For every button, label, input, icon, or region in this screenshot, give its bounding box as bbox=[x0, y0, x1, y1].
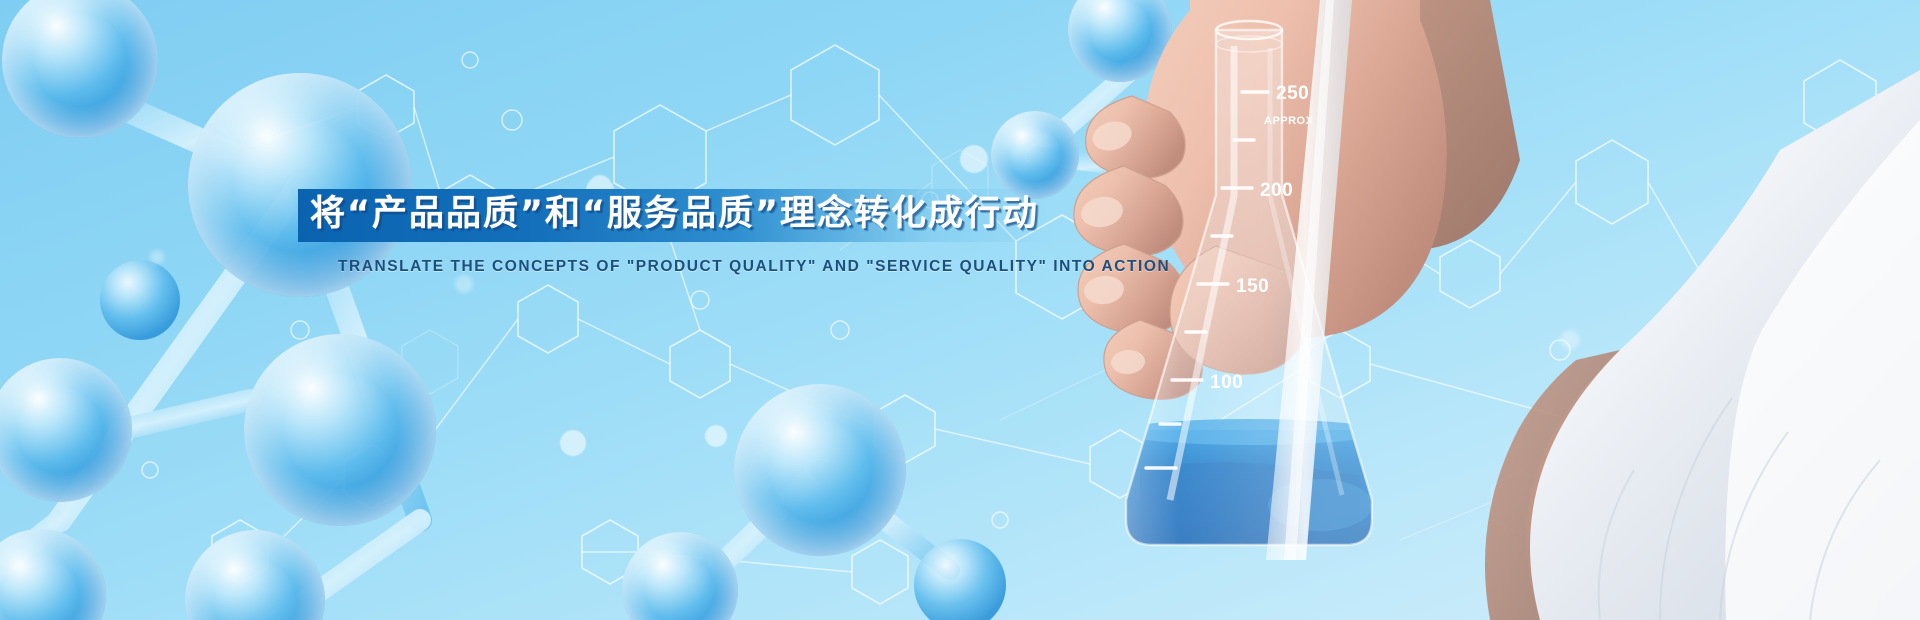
hand-with-flask-photo: 250 APPROX 200 150 100 bbox=[1020, 0, 1920, 620]
headline-bar: 将“产品品质”和“服务品质”理念转化成行动 bbox=[298, 189, 1055, 242]
flask-graduation-250: 250 bbox=[1276, 83, 1309, 104]
banner-headline: 将“产品品质”和“服务品质”理念转化成行动 bbox=[310, 196, 1039, 233]
banner-subheadline: TRANSLATE THE CONCEPTS OF "PRODUCT QUALI… bbox=[338, 258, 1018, 276]
hero-banner: 250 APPROX 200 150 100 将“产 bbox=[0, 0, 1920, 620]
banner-text-block: 将“产品品质”和“服务品质”理念转化成行动 TRANSLATE THE CONC… bbox=[298, 189, 1018, 276]
flask-graduation-150: 150 bbox=[1236, 276, 1269, 297]
flask-graduation-100: 100 bbox=[1210, 372, 1243, 393]
flask-graduation-200: 200 bbox=[1260, 180, 1293, 201]
flask-approx-label: APPROX bbox=[1264, 115, 1314, 127]
